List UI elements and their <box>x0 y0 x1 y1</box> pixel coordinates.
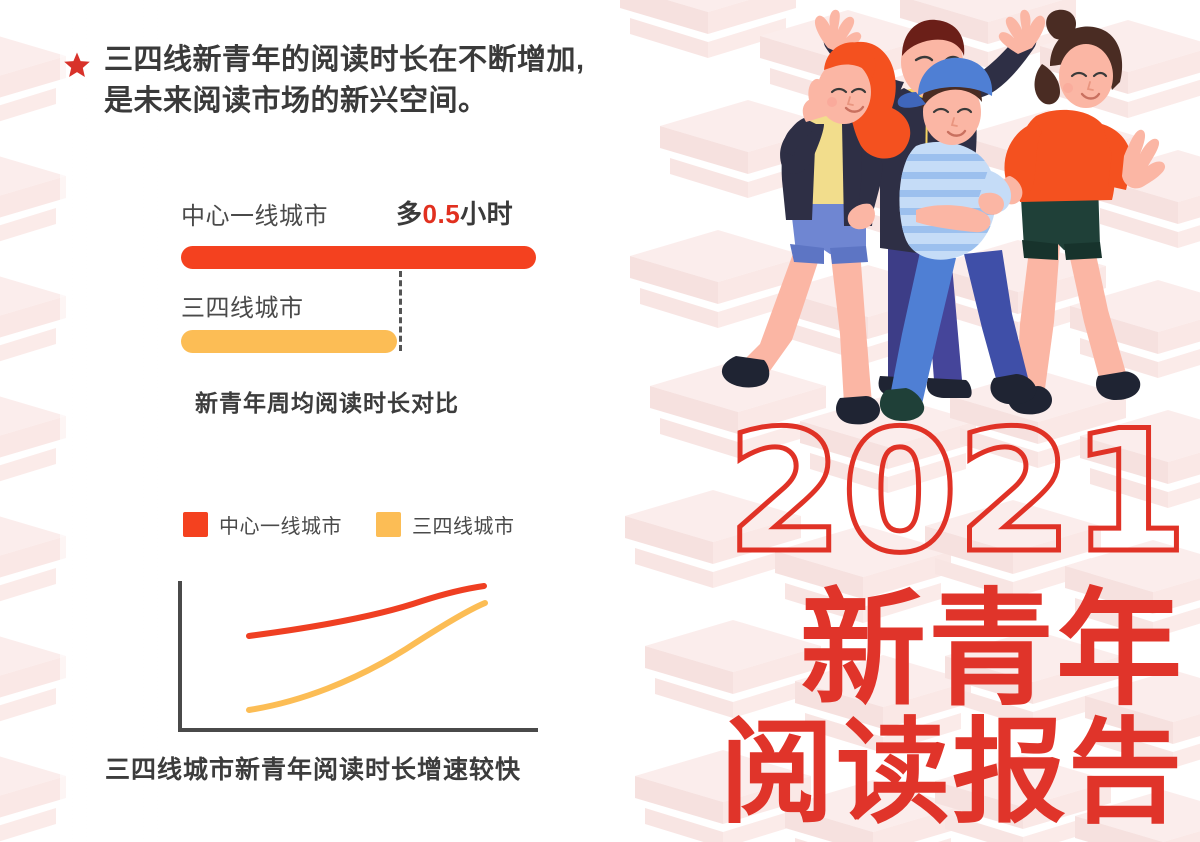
legend-swatch-yellow <box>376 512 401 537</box>
legend-label-tier1: 中心一线城市 <box>219 510 342 539</box>
four-young-people-illustration <box>720 4 1190 434</box>
poster-subtitle: 阅读报告 <box>620 716 1200 832</box>
headline-text: 三四线新青年的阅读时长在不断增加, 是未来阅读市场的新兴空间。 <box>104 40 585 122</box>
right-poster-column: 2021 新青年 阅读报告 <box>620 0 1200 842</box>
legend-label-tier34: 三四线城市 <box>412 510 515 539</box>
left-content-column: 三四线新青年的阅读时长在不断增加, 是未来阅读市场的新兴空间。 中心一线城市 多… <box>0 0 620 842</box>
bar-label-tier34: 三四线城市 <box>181 288 304 323</box>
bar-delta-prefix: 多 <box>396 199 423 229</box>
infographic-page: 三四线新青年的阅读时长在不断增加, 是未来阅读市场的新兴空间。 中心一线城市 多… <box>0 0 1200 842</box>
line-chart-caption: 三四线城市新青年阅读时长增速较快 <box>0 750 620 786</box>
bar-chart-caption: 新青年周均阅读时长对比 <box>0 384 620 418</box>
bar-comparison-chart: 中心一线城市 多0.5小时 三四线城市 新青年周均阅读时长对比 <box>0 196 620 232</box>
legend-item-tier34: 三四线城市 <box>376 510 515 539</box>
bar-tier34-cities <box>181 330 397 353</box>
legend-item-tier1: 中心一线城市 <box>183 510 342 539</box>
poster-year: 2021 <box>620 408 1200 576</box>
growth-line-chart <box>160 575 560 745</box>
bar-delta-divider <box>399 271 402 351</box>
star-icon <box>64 52 90 82</box>
chart-legend: 中心一线城市 三四线城市 <box>183 510 515 539</box>
line-series-tier1 <box>249 586 484 636</box>
person-right-girl <box>1000 10 1165 415</box>
bar-delta-value: 0.5 <box>423 199 461 229</box>
bar-label-tier1: 中心一线城市 <box>181 196 328 231</box>
bar-row-top-labels: 中心一线城市 多0.5小时 <box>0 196 620 232</box>
bar-delta-label: 多0.5小时 <box>396 194 513 231</box>
bar-delta-suffix: 小时 <box>460 199 513 229</box>
bar-tier1-cities <box>181 246 536 269</box>
legend-swatch-red <box>183 512 208 537</box>
poster-title: 新青年 <box>620 586 1200 715</box>
headline: 三四线新青年的阅读时长在不断增加, 是未来阅读市场的新兴空间。 <box>64 40 624 122</box>
